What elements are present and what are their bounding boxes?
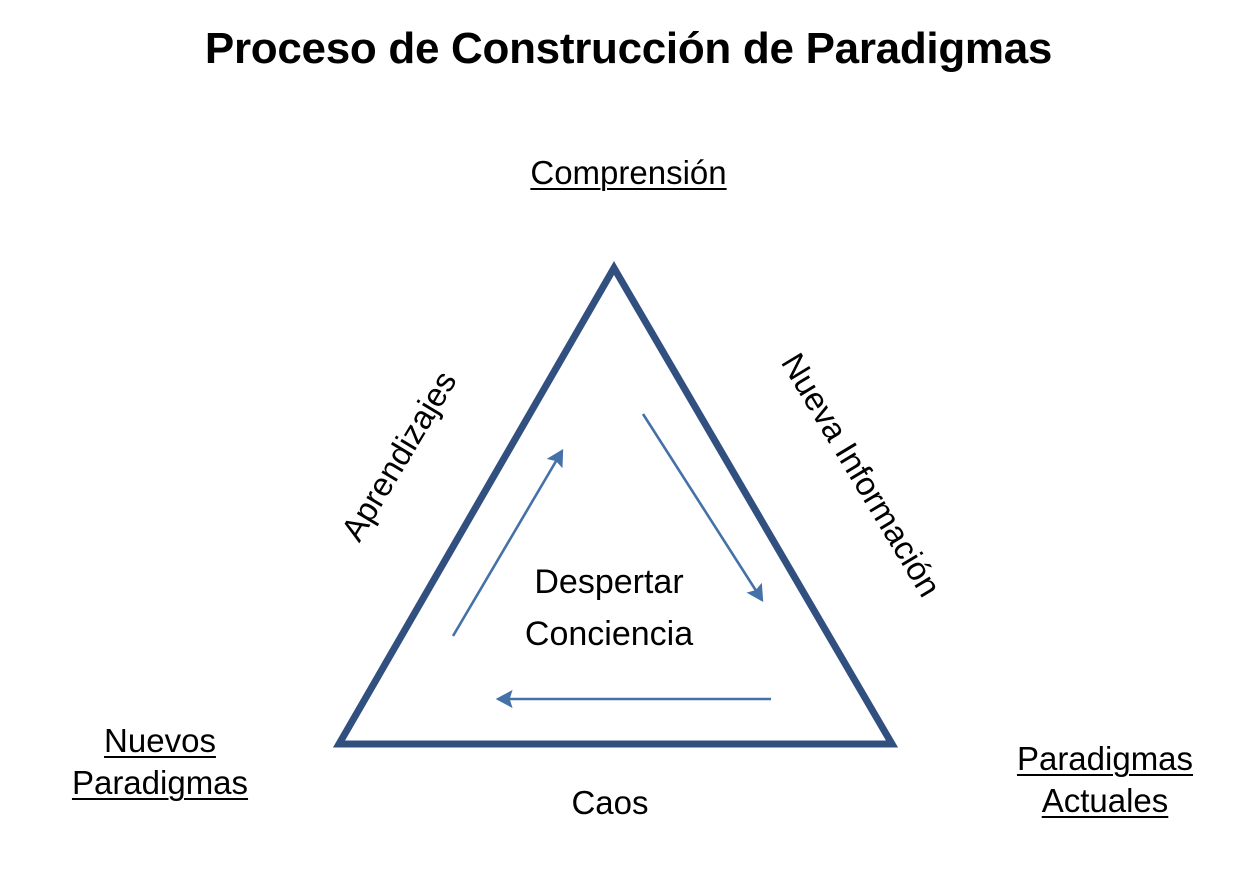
vertex-label-caos: Caos [495, 782, 725, 824]
vertex-label-comprension: Comprensión [0, 152, 1257, 194]
diagram-canvas: Proceso de Construcción de Paradigmas Co… [0, 0, 1257, 873]
vertex-label-nuevos-paradigmas-line1: Nuevos [104, 722, 216, 759]
vertex-label-caos-text: Caos [571, 784, 648, 821]
triangle-outline [339, 268, 892, 744]
vertex-label-nuevos-paradigmas-line2: Paradigmas [72, 764, 248, 801]
vertex-label-paradigmas-actuales-line2: Actuales [1042, 782, 1169, 819]
vertex-label-paradigmas-actuales-line1: Paradigmas [1017, 740, 1193, 777]
vertex-label-nuevos-paradigmas: Nuevos Paradigmas [30, 720, 290, 804]
vertex-label-paradigmas-actuales: Paradigmas Actuales [975, 738, 1235, 822]
vertex-label-comprension-text: Comprensión [530, 154, 726, 191]
center-label-line1: Despertar [459, 557, 759, 609]
center-label-line2: Conciencia [459, 609, 759, 661]
center-label-despertar-conciencia: Despertar Conciencia [459, 557, 759, 660]
